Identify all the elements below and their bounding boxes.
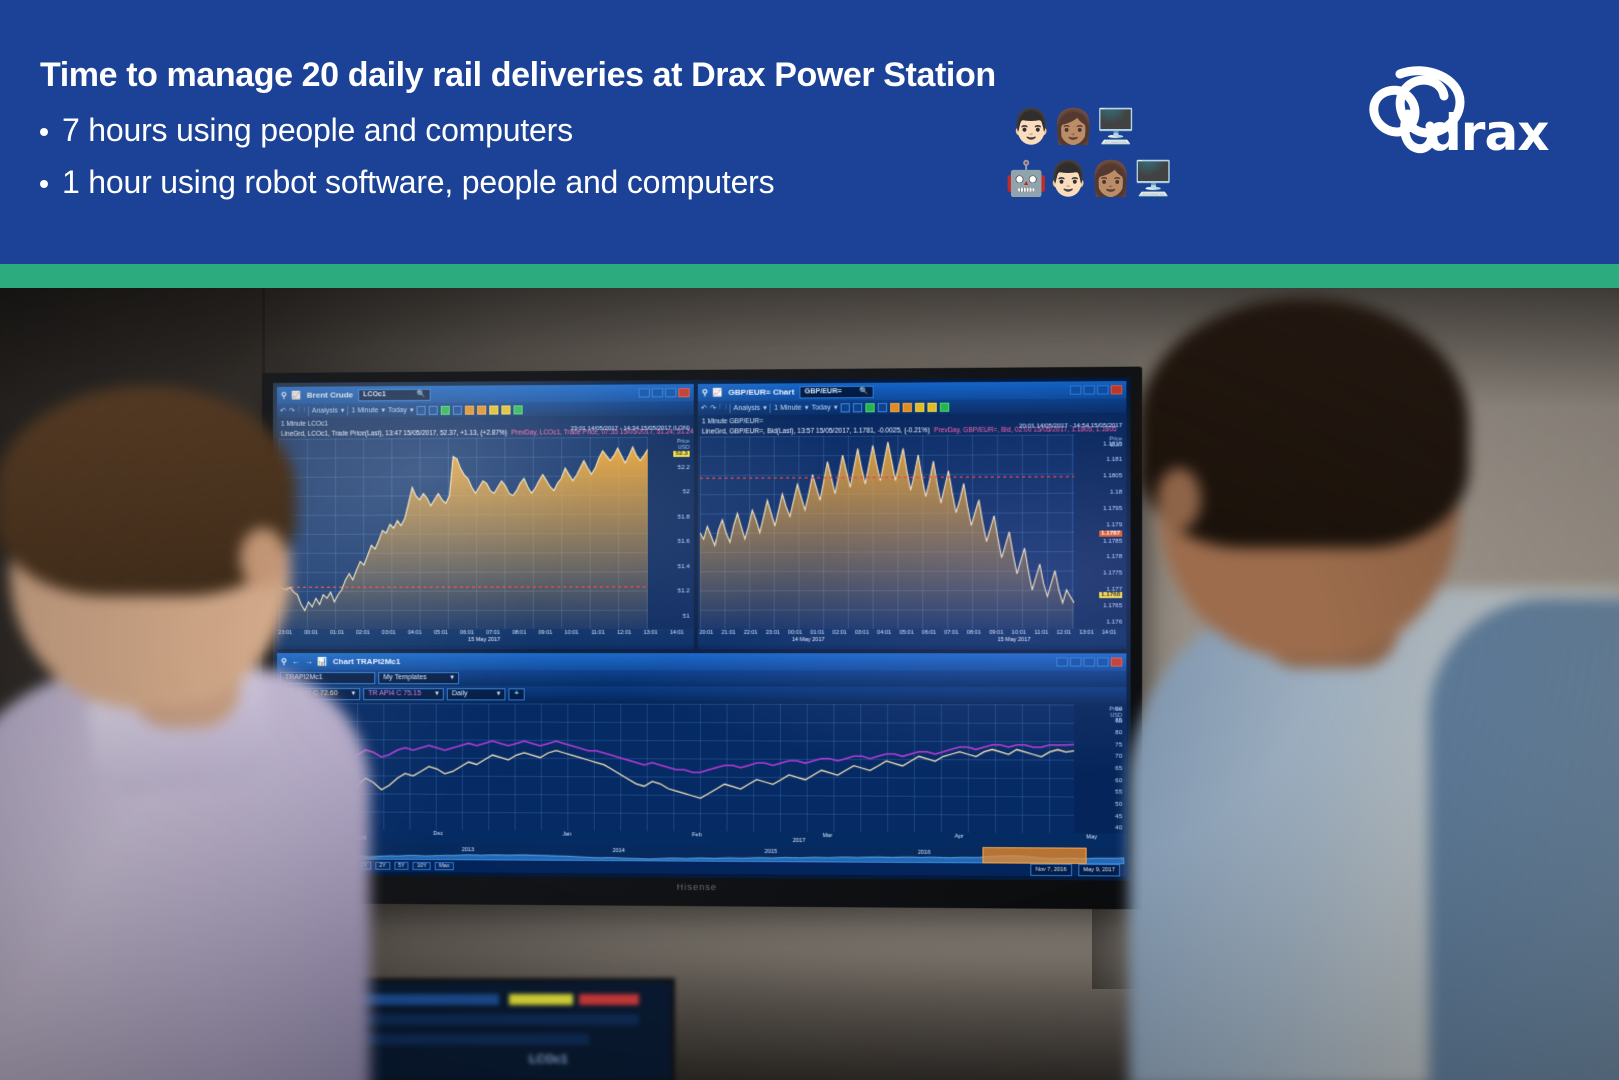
brent-y-tick: 51	[683, 613, 690, 619]
search-icon[interactable]: 🔍	[860, 386, 869, 396]
bullet-label-1: 1 hour using robot software, people and …	[62, 164, 774, 201]
fx-search-value: GBP/EUR=	[805, 387, 842, 397]
fx-x-tick: 02:01	[832, 630, 846, 636]
trapi-x-tick: Jan	[563, 832, 572, 838]
bullet-label-0: 7 hours using people and computers	[62, 112, 573, 149]
fx-x-tick: 08:01	[967, 630, 981, 636]
fx-x-tick: 13:01	[1079, 630, 1093, 636]
accent-green-bar	[0, 264, 1619, 288]
person-right-foreground	[1099, 298, 1619, 1080]
chevron-down-icon[interactable]: ▾	[834, 403, 838, 411]
trapi-x-tick: Mar	[823, 833, 833, 839]
person-right-sleeve	[1429, 598, 1619, 1080]
chevron-down-icon[interactable]: ▾	[805, 404, 809, 412]
fx-x-tick: 10:01	[1012, 630, 1026, 636]
fx-title: GBP/EUR= Chart	[728, 387, 794, 397]
page-title: Time to manage 20 daily rail deliveries …	[40, 56, 996, 95]
brent-x-tick: 08:01	[512, 630, 526, 636]
trapi-x-tick: Feb	[692, 832, 702, 838]
alert-icon[interactable]	[915, 402, 924, 411]
layers-icon[interactable]	[453, 405, 462, 414]
fx-legend-main: LineGrd, GBP/EUR=, Bid(Last), 13:57 15/0…	[702, 427, 930, 435]
fx-x-tick: 20:01	[699, 630, 713, 636]
add-indicator-icon[interactable]	[865, 403, 874, 412]
trapi-range-button[interactable]: Max	[435, 862, 454, 870]
brent-x-date: 15 May 2017	[468, 637, 500, 643]
person-right-ear	[1157, 468, 1201, 530]
brent-y-tick: 52.2	[678, 465, 690, 471]
fx-x-tick: 12:01	[1057, 630, 1071, 636]
crosshair-icon[interactable]	[429, 405, 438, 414]
maximize-button[interactable]	[665, 388, 676, 397]
trapi-x-tick: Dec	[433, 831, 443, 837]
fx-search-input[interactable]: GBP/EUR= 🔍	[799, 385, 873, 398]
folder-icon[interactable]: 🗀	[719, 403, 726, 414]
brent-x-tick: 04:01	[408, 630, 422, 636]
brent-x-tick: 11:01	[591, 630, 605, 636]
trapi-add-button[interactable]: +	[508, 688, 524, 700]
fx-x-tick: 03:01	[855, 630, 869, 636]
brent-range-label: 23:01 14/05/2017 - 14:34 15/05/2017 (LON…	[571, 426, 690, 433]
fx-x-tick: 23:01	[766, 630, 780, 636]
close-button[interactable]	[678, 388, 689, 397]
layers-icon[interactable]	[878, 403, 887, 412]
cursor-icon[interactable]	[927, 402, 936, 411]
chevron-down-icon[interactable]: ▾	[410, 406, 414, 414]
trapi-range-from[interactable]: Nov 7, 2016	[1030, 864, 1071, 877]
chevron-down-icon[interactable]: ▾	[435, 689, 439, 699]
banner-header: Time to manage 20 daily rail deliveries …	[0, 0, 1619, 264]
crosshair-icon[interactable]	[853, 403, 862, 412]
photo-area: ⚲ 📈 Brent Crude LCOc1 🔍	[0, 288, 1619, 1080]
toolbar-separator	[770, 403, 771, 412]
chevron-down-icon[interactable]: ▾	[763, 404, 767, 412]
fx-x-tick: 07:01	[944, 630, 958, 636]
bullet-item-0: 7 hours using people and computers	[40, 112, 573, 149]
fx-x-tick: 09:01	[989, 630, 1003, 636]
trapi-x-year: 2017	[793, 838, 806, 844]
chevron-down-icon[interactable]: ▾	[450, 673, 454, 683]
fx-x-tick: 05:01	[899, 630, 913, 636]
brent-x-tick: 13:01	[643, 630, 657, 636]
fx-x-date-1: 15 May 2017	[997, 637, 1030, 643]
minimize-button[interactable]	[1070, 385, 1081, 394]
period-menu[interactable]: Today	[811, 404, 830, 411]
fx-x-tick: 21:01	[721, 630, 735, 636]
fx-x-date-0: 14 May 2017	[792, 637, 825, 643]
bullet-item-1: 1 hour using robot software, people and …	[40, 164, 774, 201]
undo-icon[interactable]: ↶	[701, 404, 707, 412]
brent-x-tick: 09:01	[538, 630, 552, 636]
brent-y-tick: 51.4	[678, 564, 690, 570]
brent-x-tick: 07:01	[486, 630, 500, 636]
compare-icon[interactable]	[477, 405, 486, 414]
navigator-year-label: 2016	[918, 850, 931, 856]
gbpeur-panel[interactable]: ⚲ 📈 GBP/EUR= Chart GBP/EUR= 🔍	[698, 381, 1127, 649]
fx-x-tick: 04:01	[877, 630, 891, 636]
trapi-range-button[interactable]: 10Y	[413, 862, 431, 870]
restore-button[interactable]	[1084, 657, 1095, 666]
search-icon[interactable]: 🔍	[417, 389, 426, 399]
brent-y-tick: 51.6	[678, 539, 690, 545]
brent-x-tick: 10:01	[565, 630, 579, 636]
fx-x-tick: 06:01	[922, 630, 936, 636]
person-left-foreground	[0, 368, 410, 1080]
fx-x-tick: 00:01	[788, 630, 802, 636]
person-left-ear	[240, 528, 286, 588]
fx-x-tick: 01:01	[810, 630, 824, 636]
bullet-dot-icon	[40, 180, 48, 188]
navigator-year-label: 2014	[612, 848, 624, 854]
chart-icon: 📈	[713, 388, 723, 397]
restore-button[interactable]	[652, 388, 663, 397]
fx-plot-area[interactable]	[700, 435, 1074, 629]
trapi-x-tick: Apr	[955, 834, 964, 840]
analysis-menu[interactable]: Analysis	[733, 404, 760, 411]
brent-x-tick: 14:01	[670, 630, 684, 636]
grid-toggle-icon[interactable]	[416, 405, 425, 414]
brent-y-tick: 51.8	[678, 514, 690, 520]
restore-button[interactable]	[1084, 385, 1095, 394]
brent-current-price: 52.3	[674, 451, 690, 457]
desk-monitor-bar-c	[579, 994, 639, 1005]
bullet-emoji-1: 🤖👨🏻👩🏽🖥️	[1005, 162, 1174, 196]
brent-x-tick: 12:01	[617, 630, 631, 636]
bullet-dot-icon	[40, 128, 48, 136]
desk-monitor-bar-b	[509, 994, 573, 1005]
redo-icon[interactable]: ↷	[710, 404, 716, 412]
zoom-icon[interactable]	[890, 402, 899, 411]
alert-icon[interactable]	[489, 405, 498, 414]
trapi-interval-label: Daily	[452, 689, 468, 699]
zoom-icon[interactable]	[465, 405, 474, 414]
cursor-icon[interactable]	[501, 405, 510, 414]
navigator-range-handle[interactable]	[982, 847, 1086, 864]
navigator-year-label: 2015	[765, 849, 778, 855]
snapshot-icon[interactable]	[513, 405, 522, 414]
minimize-button[interactable]	[1070, 657, 1081, 666]
grid-toggle-icon[interactable]	[841, 403, 850, 412]
brent-y-tick: 52	[683, 489, 690, 495]
fx-series-svg	[700, 435, 1074, 629]
add-indicator-icon[interactable]	[441, 405, 450, 414]
drax-wordmark: drax	[1426, 104, 1548, 162]
brent-price-axis[interactable]: PriceUSDBbl 52.3 52.25251.851.651.451.25…	[648, 437, 692, 629]
desk-monitor-label: LCOc1	[529, 1052, 568, 1066]
fx-time-axis[interactable]: 14 May 2017 15 May 2017 20:0121:0122:012…	[698, 629, 1127, 645]
refresh-button[interactable]	[1056, 657, 1067, 666]
compare-icon[interactable]	[903, 402, 912, 411]
pin-icon[interactable]: ⚲	[702, 388, 708, 397]
trapi-interval-select[interactable]: Daily ▾	[447, 688, 506, 700]
brent-x-tick: 06:01	[460, 630, 474, 636]
trapi-x-tick: May	[1086, 834, 1097, 840]
fx-x-tick: 11:01	[1034, 630, 1048, 636]
toolbar-separator	[729, 404, 730, 413]
navigator-year-label: 2013	[462, 847, 474, 853]
brent-x-tick: 05:01	[434, 630, 448, 636]
interval-menu[interactable]: 1 Minute	[774, 404, 802, 411]
fx-x-tick: 22:01	[744, 630, 758, 636]
bullet-emoji-0: 👨🏻👩🏽🖥️	[1010, 110, 1137, 144]
minimize-button[interactable]	[639, 388, 650, 397]
chevron-down-icon[interactable]: ▾	[497, 689, 501, 699]
snapshot-icon[interactable]	[940, 402, 949, 411]
brent-y-tick: 51.2	[678, 589, 690, 595]
brent-window-controls[interactable]	[639, 388, 690, 397]
drax-logo: drax	[1360, 62, 1560, 162]
